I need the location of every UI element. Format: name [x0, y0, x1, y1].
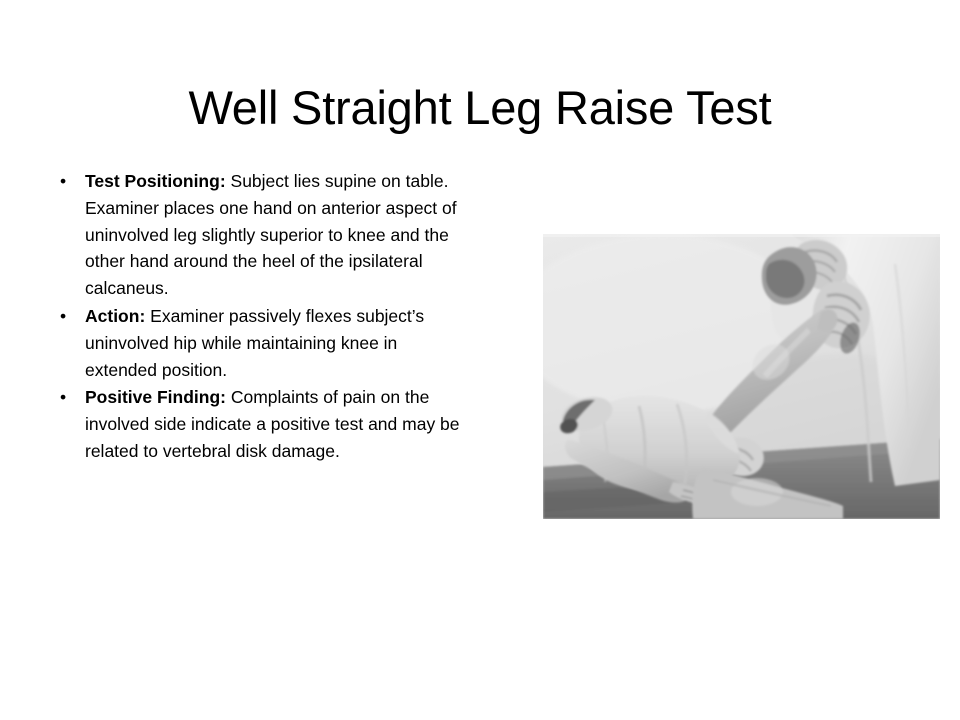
photo-illustration — [543, 234, 940, 519]
list-item: • Positive Finding: Complaints of pain o… — [54, 384, 474, 464]
bullet-list: • Test Positioning: Subject lies supine … — [54, 168, 474, 466]
bullet-lead-label: Positive Finding: — [85, 387, 226, 407]
bullet-point-icon: • — [60, 168, 66, 195]
list-item: • Test Positioning: Subject lies supine … — [54, 168, 474, 302]
list-item: • Action: Examiner passively flexes subj… — [54, 303, 474, 383]
bullet-point-icon: • — [60, 303, 66, 330]
page-title: Well Straight Leg Raise Test — [0, 79, 960, 137]
bullet-lead-label: Test Positioning: — [85, 171, 226, 191]
bullet-lead-label: Action: — [85, 306, 145, 326]
well-straight-leg-raise-photo — [543, 234, 940, 519]
bullet-point-icon: • — [60, 384, 66, 411]
slide-canvas: Well Straight Leg Raise Test • Test Posi… — [0, 0, 960, 720]
